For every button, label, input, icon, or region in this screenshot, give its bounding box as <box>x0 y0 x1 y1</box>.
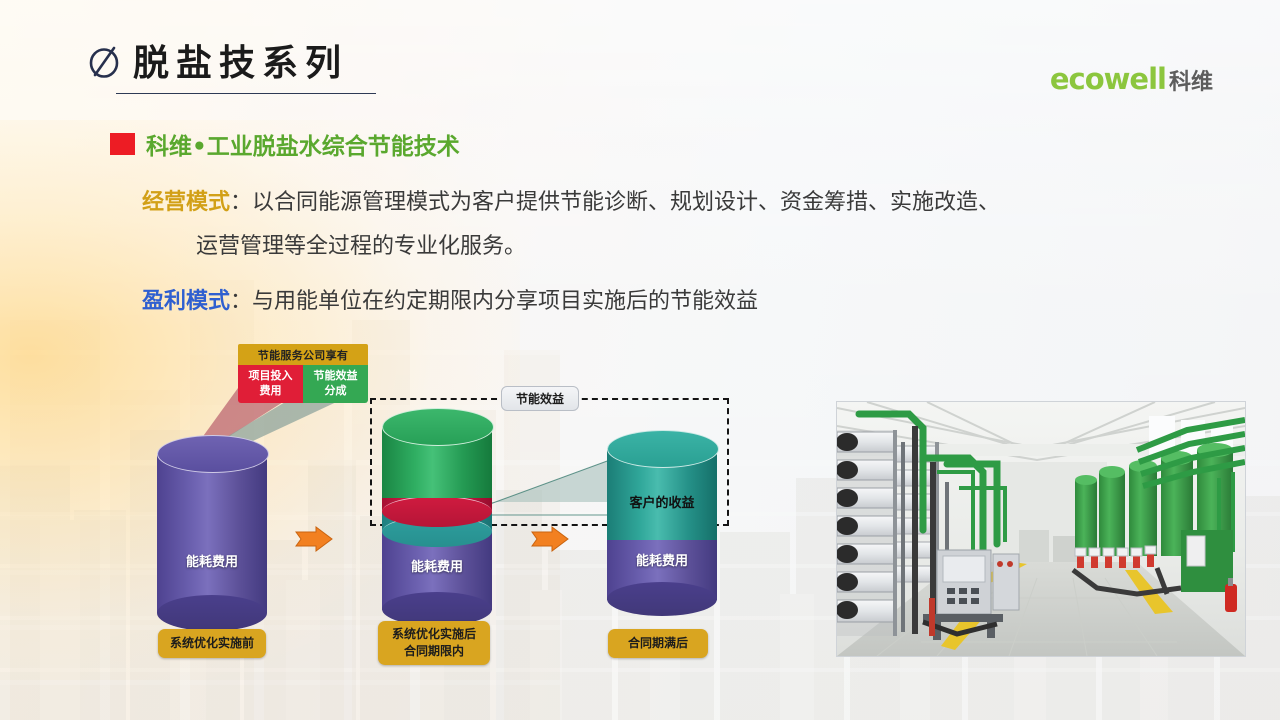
paragraph-business-model-body1: ：以合同能源管理模式为客户提供节能诊断、规划设计、资金筹措、实施改造、 <box>230 189 1000 214</box>
energy-saving-share-cell: 节能效益 分成 <box>303 365 368 403</box>
slide-header: 脱盐技系列 ecowell 科维 <box>0 0 1280 110</box>
section-headline-text: 科维•工业脱盐水综合节能技术 <box>146 127 460 161</box>
cylinder3-bottom-label: 能耗费用 <box>607 550 717 569</box>
cylinder-after-contract: 客户的收益 能耗费用 <box>607 430 717 625</box>
paragraph-profit-model-body1: ：与用能单位在约定期限内分享项目实施后的节能效益 <box>230 288 758 313</box>
service-company-title: 节能服务公司享有 <box>238 344 368 365</box>
energy-saving-share-line1: 节能效益 <box>314 369 358 384</box>
tag-after-contract-line1: 合同期满后 <box>628 635 688 652</box>
tag-before-optimization-line1: 系统优化实施前 <box>170 635 254 652</box>
section-headline: 科维•工业脱盐水综合节能技术 <box>110 127 460 161</box>
energy-saving-benefit-label: 节能效益 <box>501 386 579 411</box>
project-investment-cost-line1: 项目投入 <box>249 369 293 384</box>
tag-during-contract-line2: 合同期限内 <box>404 643 464 660</box>
tag-during-contract-line1: 系统优化实施后 <box>392 626 476 643</box>
brand-logo: ecowell 科维 <box>1050 62 1213 96</box>
paragraph-profit-model-line1: 盈利模式：与用能单位在约定期限内分享项目实施后的节能效益 <box>142 279 758 323</box>
savings-model-diagram: 节能服务公司享有 项目投入 费用 节能效益 分成 节能效益 能耗费用 <box>0 330 800 680</box>
title-underline <box>116 93 376 94</box>
tag-before-optimization: 系统优化实施前 <box>158 629 266 658</box>
arrow-2-icon <box>530 526 570 552</box>
paragraph-business-model-line1: 经营模式：以合同能源管理模式为客户提供节能诊断、规划设计、资金筹措、实施改造、 <box>142 180 1000 224</box>
cylinder2-segment-label: 能耗费用 <box>382 556 492 575</box>
service-company-cells: 项目投入 费用 节能效益 分成 <box>238 365 368 403</box>
paragraph-profit-model-lead: 盈利模式 <box>142 288 230 313</box>
slide: 脱盐技系列 ecowell 科维 科维•工业脱盐水综合节能技术 经营模式：以合同… <box>0 0 1280 720</box>
cylinder-during-contract: 能耗费用 <box>382 408 492 626</box>
circle-slash-icon <box>88 42 122 80</box>
red-square-bullet-icon <box>110 133 135 155</box>
project-investment-cost-cell: 项目投入 费用 <box>238 365 303 403</box>
paragraph-business-model-line2: 运营管理等全过程的专业化服务。 <box>196 224 526 268</box>
energy-saving-share-line2: 分成 <box>325 384 347 399</box>
paragraph-business-model-lead: 经营模式 <box>142 189 230 214</box>
tag-after-contract: 合同期满后 <box>608 629 708 658</box>
project-investment-cost-line2: 费用 <box>260 384 282 399</box>
arrow-1-icon <box>294 526 334 552</box>
logo-chinese-name: 科维 <box>1169 64 1213 96</box>
cylinder3-top-label: 客户的收益 <box>607 492 717 511</box>
service-company-group-box: 节能服务公司享有 项目投入 费用 节能效益 分成 <box>238 344 368 403</box>
plant-photo <box>836 401 1246 657</box>
logo-wordmark: ecowell <box>1050 62 1166 96</box>
cylinder1-segment-label: 能耗费用 <box>157 551 267 570</box>
cylinder-before-optimization: 能耗费用 <box>157 435 267 620</box>
page-title: 脱盐技系列 <box>133 34 348 86</box>
tag-during-contract: 系统优化实施后 合同期限内 <box>378 621 490 665</box>
